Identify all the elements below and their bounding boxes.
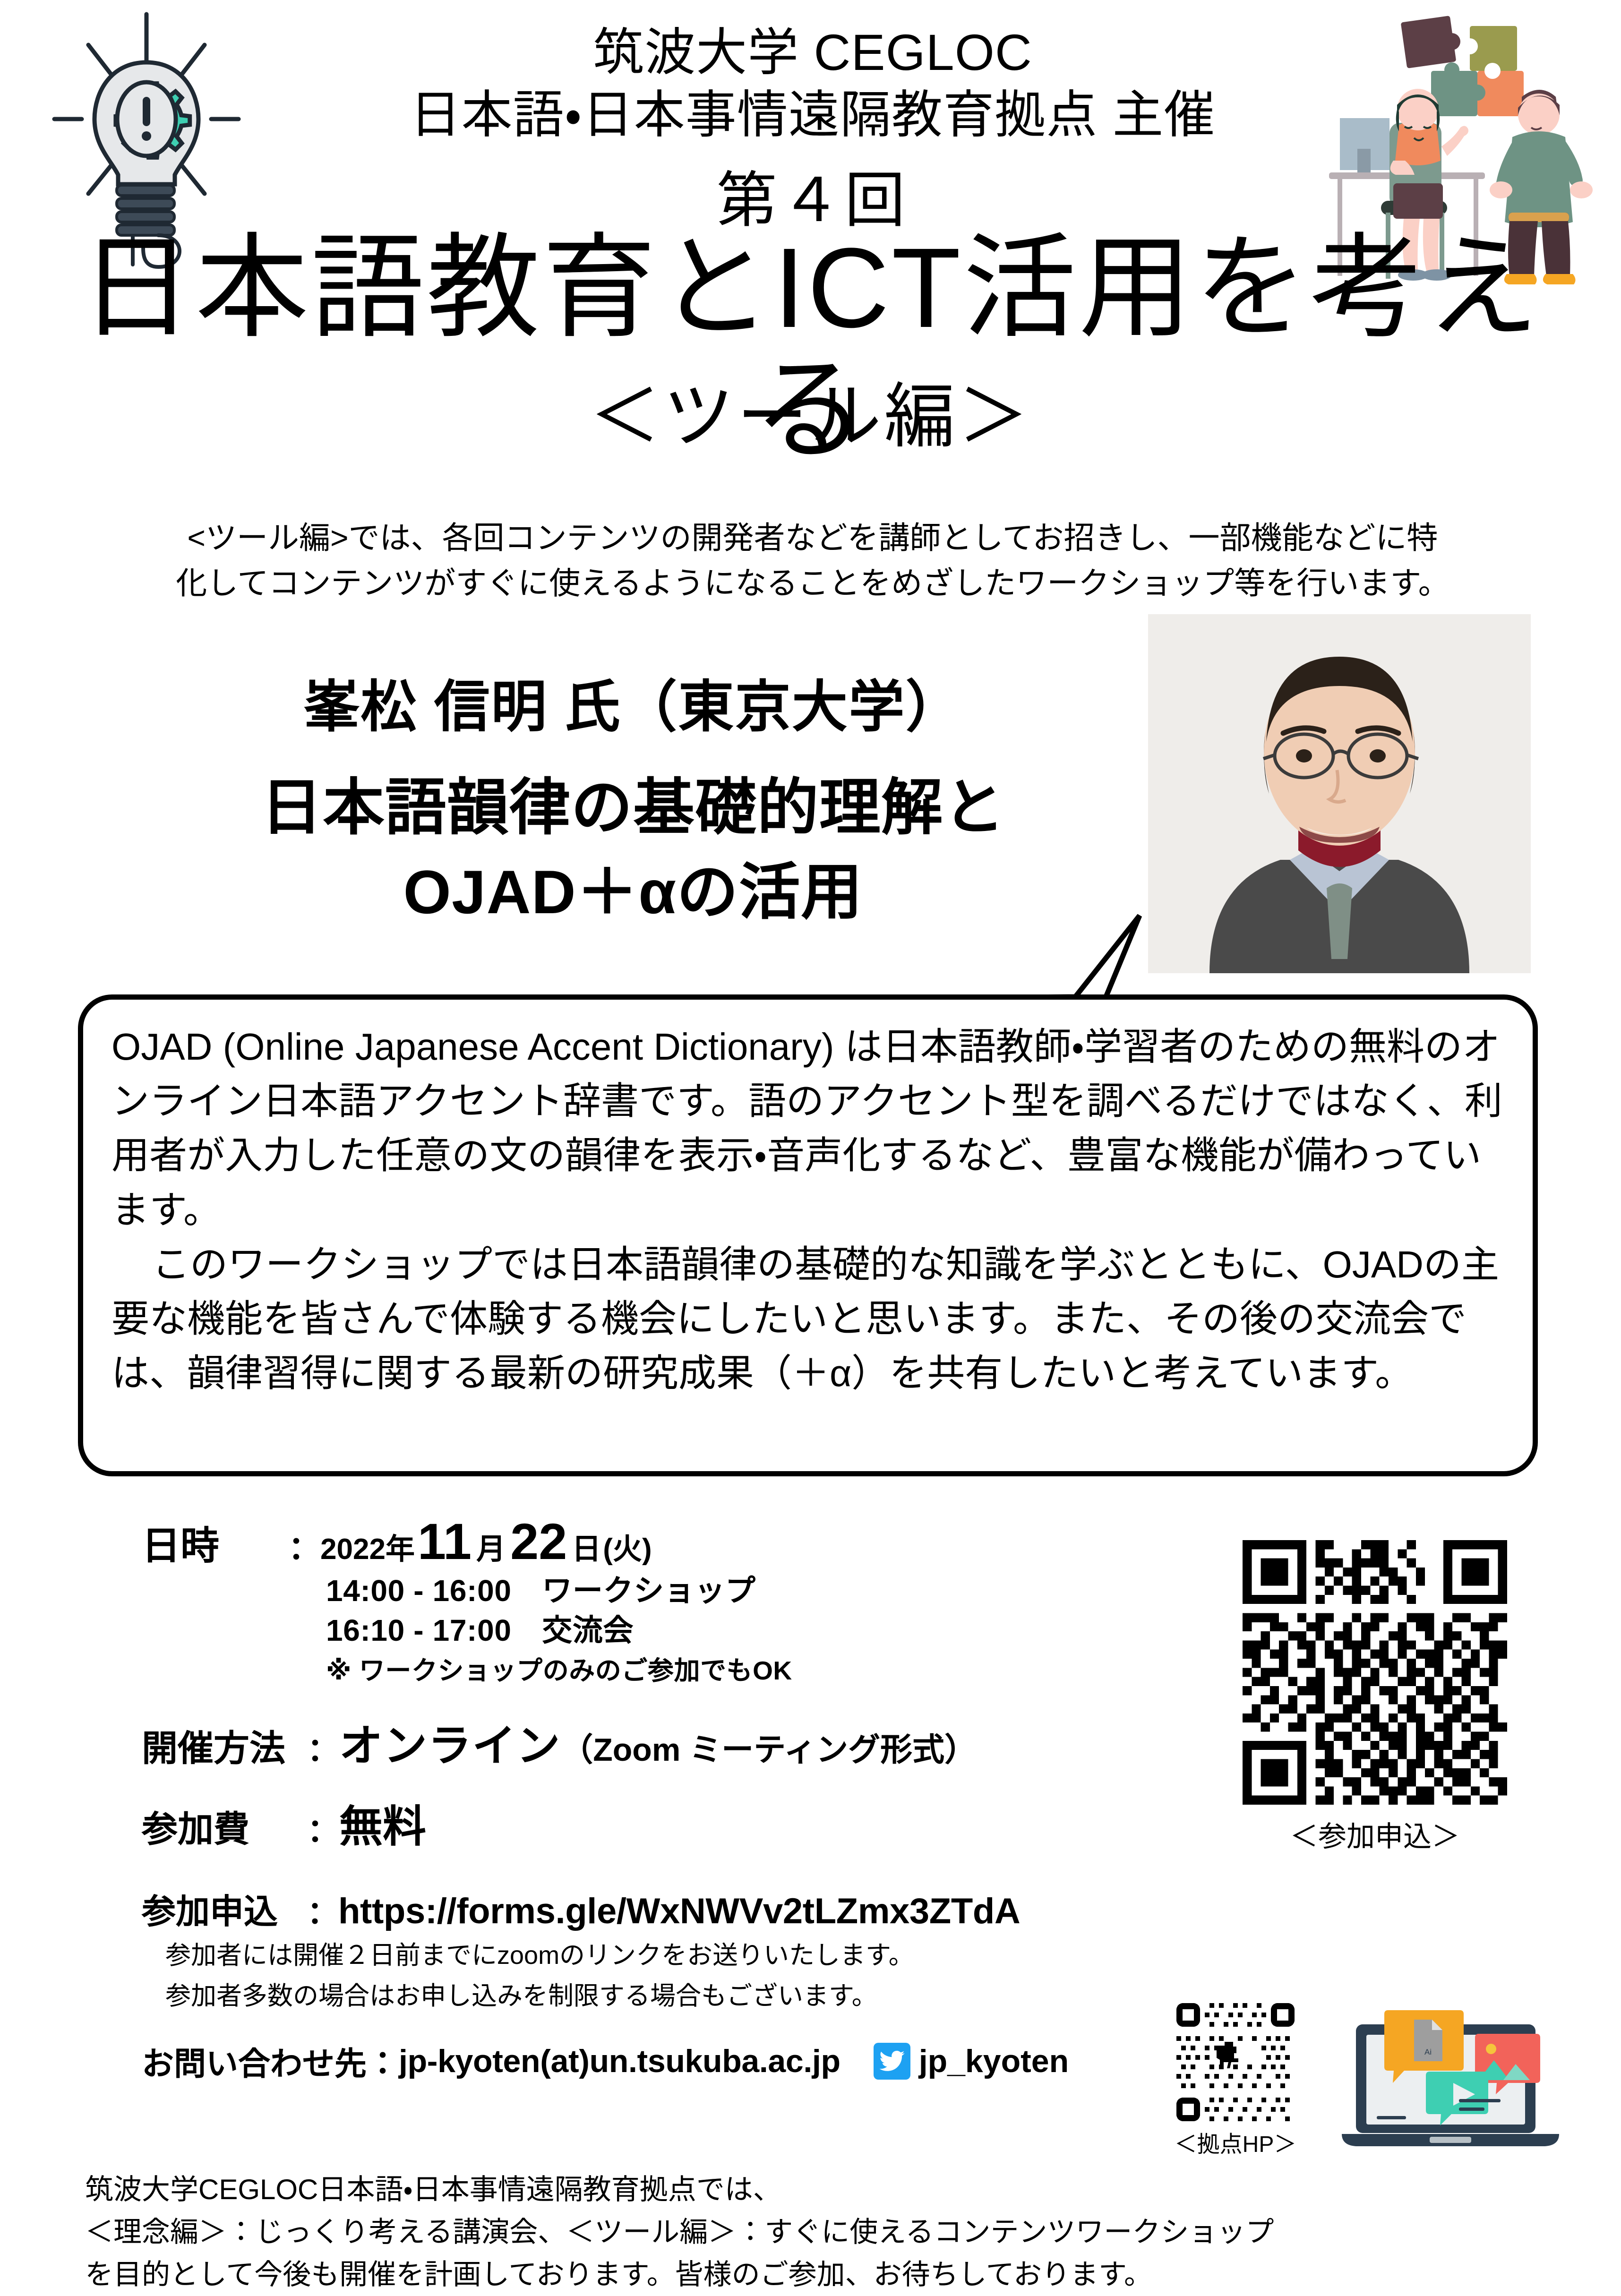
- apply-label: 参加申込: [142, 1884, 307, 1933]
- page-subtitle: ＜ツール編＞: [28, 359, 1593, 462]
- intro-line-2: 化してコンテンツがすぐに使えるようになることをめざしたワークショップ等を行います…: [66, 560, 1559, 606]
- schedule-line-1: 14:00 - 16:00 ワークショップ: [326, 1571, 1219, 1611]
- method-parenthetical: （Zoom ミーティング形式）: [561, 1723, 977, 1770]
- detail-row-fee: 参加費 ： 無料: [142, 1791, 1219, 1854]
- apply-colon: ：: [307, 1887, 338, 1933]
- date-label: 日時: [142, 1514, 288, 1570]
- fee-value: 無料: [339, 1791, 426, 1854]
- intro-paragraph: <ツール編>では、各回コンテンツの開発者などを講師としてお招きし、一部機能などに…: [66, 515, 1559, 606]
- intro-line-1: <ツール編>では、各回コンテンツの開発者などを講師としてお招きし、一部機能などに…: [66, 515, 1559, 560]
- svg-text:Ai: Ai: [1424, 2048, 1432, 2056]
- qr-apply-block: ＜参加申込＞: [1228, 1540, 1521, 1855]
- detail-row-date: 日時 ： 2022年 11 月 22 日 (火) 14:00 - 16:00 ワ…: [142, 1512, 1219, 1689]
- apply-note-line-2: 参加者多数の場合はお申し込みを制限する場合もございます。: [165, 1979, 1219, 2014]
- bubble-paragraph-2: このワークショップでは日本語韻律の基礎的な知識を学ぶとともに、OJADの主要な機…: [111, 1237, 1510, 1401]
- qr-hp-label: ＜拠点HP＞: [1158, 2125, 1313, 2159]
- date-colon: ：: [288, 1522, 320, 1568]
- detail-row-contact: お問い合わせ先： jp-kyoten(at)un.tsukuba.ac.jp j…: [142, 2038, 1219, 2084]
- twitter-handle[interactable]: jp_kyoten: [919, 2043, 1069, 2080]
- method-colon: ：: [307, 1723, 339, 1770]
- event-details: 日時 ： 2022年 11 月 22 日 (火) 14:00 - 16:00 ワ…: [142, 1512, 1219, 2084]
- twitter-icon[interactable]: [874, 2043, 910, 2080]
- date-month-number: 11: [415, 1512, 474, 1571]
- apply-url[interactable]: https://forms.gle/WxNWVv2tLZmx3ZTdA: [338, 1891, 1020, 1932]
- qr-hp-block: ＜拠点HP＞: [1158, 2003, 1313, 2159]
- date-day-number: 22: [507, 1512, 570, 1571]
- footer-line-1: 筑波大学CEGLOC日本語・日本事情遠隔教育拠点では、: [85, 2168, 1573, 2211]
- organizer-line-2: 日本語・日本事情遠隔教育拠点 主催: [302, 84, 1323, 146]
- talk-title: 日本語韻律の基礎的理解と OJAD＋αの活用: [142, 765, 1124, 935]
- laptop-media-illustration: Ai: [1337, 2005, 1564, 2161]
- speech-bubble-text: OJAD (Online Japanese Accent Dictionary)…: [111, 1019, 1510, 1400]
- footer-line-3: を目的として今後も開催を計画しております。皆様のご参加、お待ちしております。: [85, 2253, 1573, 2296]
- schedule-line-2: 16:10 - 17:00 交流会: [326, 1611, 1219, 1650]
- contact-email[interactable]: jp-kyoten(at)un.tsukuba.ac.jp: [399, 2043, 841, 2080]
- bubble-paragraph-1: OJAD (Online Japanese Accent Dictionary)…: [111, 1019, 1510, 1237]
- footer-line-2: ＜理念編＞：じっくり考える講演会、＜ツール編＞：すぐに使えるコンテンツワークショ…: [85, 2211, 1573, 2253]
- date-month-unit: 月: [474, 1525, 507, 1568]
- date-day-of-week: (火): [603, 1525, 652, 1568]
- apply-note-line-1: 参加者には開催２日前までにzoomのリンクをお送りいたします。: [165, 1938, 1219, 1974]
- detail-row-apply: 参加申込 ： https://forms.gle/WxNWVv2tLZmx3ZT…: [142, 1884, 1219, 2014]
- talk-title-line-1: 日本語韻律の基礎的理解と: [142, 765, 1124, 850]
- fee-colon: ：: [307, 1804, 339, 1851]
- header-block: 筑波大学 CEGLOC 日本語・日本事情遠隔教育拠点 主催 第４回 日本語教育と…: [0, 0, 1621, 501]
- organizer-line-1: 筑波大学 CEGLOC: [302, 21, 1323, 84]
- method-label: 開催方法: [142, 1719, 307, 1771]
- qr-hp-code[interactable]: [1176, 2003, 1295, 2121]
- twitter-badge[interactable]: jp_kyoten: [874, 2043, 1069, 2080]
- qr-apply-label: ＜参加申込＞: [1228, 1814, 1521, 1855]
- detail-row-method: 開催方法 ： オンライン （Zoom ミーティング形式）: [142, 1711, 1219, 1773]
- speech-bubble: OJAD (Online Japanese Accent Dictionary)…: [78, 994, 1538, 1476]
- method-value: オンライン: [339, 1711, 561, 1773]
- fee-label: 参加費: [142, 1800, 307, 1852]
- schedule-note: ※ ワークショップのみのご参加でもOK: [326, 1653, 1219, 1689]
- date-year: 2022年: [320, 1525, 415, 1568]
- qr-apply-code[interactable]: [1243, 1540, 1507, 1805]
- footer-text: 筑波大学CEGLOC日本語・日本事情遠隔教育拠点では、 ＜理念編＞：じっくり考え…: [85, 2168, 1573, 2296]
- date-day-unit: 日: [570, 1525, 603, 1568]
- organizer-lines: 筑波大学 CEGLOC 日本語・日本事情遠隔教育拠点 主催: [302, 21, 1323, 146]
- contact-label: お問い合わせ先：: [142, 2038, 399, 2084]
- speaker-name: 峯松 信明 氏（東京大学）: [161, 661, 1106, 742]
